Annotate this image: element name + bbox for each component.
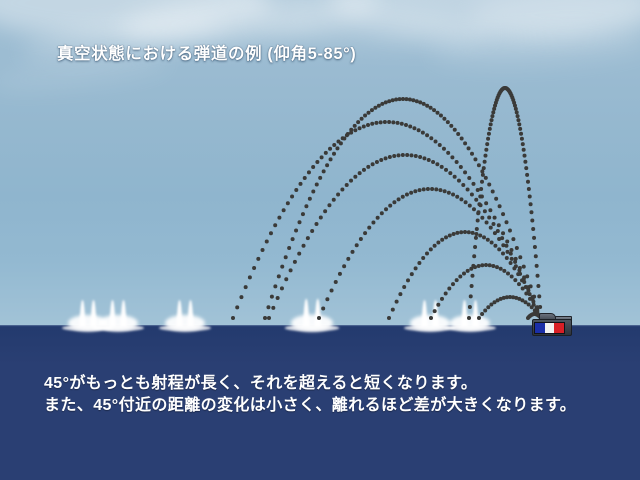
impact-splash-base: [159, 325, 211, 331]
impact-splash-plume: [90, 300, 96, 326]
impact-splash-plume: [461, 300, 467, 326]
impact-splash-plume: [176, 300, 182, 326]
impact-splash-plume: [79, 300, 85, 326]
impact-splash-base: [92, 325, 144, 331]
caption-line-1: 45°がもっとも射程が長く、それを超えると短くなります。: [44, 373, 576, 395]
impact-splash-plume: [303, 299, 310, 326]
trajectory-illustration: 真空状態における弾道の例 (仰角5-85°) 45°がもっとも射程が長く、それを…: [0, 0, 640, 480]
caption-block: 45°がもっとも射程が長く、それを超えると短くなります。 また、45°付近の距離…: [44, 373, 576, 417]
page-title: 真空状態における弾道の例 (仰角5-85°): [57, 40, 356, 64]
impact-splash-plume: [432, 300, 438, 326]
flag-stripe-blue: [535, 323, 545, 333]
impact-splash-plume: [187, 300, 193, 326]
impact-splash-plume: [314, 299, 321, 326]
caption-line-2: また、45°付近の距離の変化は小さく、離れるほど差が大きくなります。: [44, 395, 576, 417]
impact-splash-plume: [120, 300, 126, 326]
impact-splash-plume: [421, 300, 427, 326]
flag-stripe-red: [554, 323, 564, 333]
french-flag-icon: [534, 322, 565, 334]
impact-splash-plume: [109, 300, 115, 326]
impact-splash-base: [444, 325, 496, 331]
cannon[interactable]: [528, 303, 574, 337]
flag-stripe-white: [545, 323, 555, 333]
impact-splash-base: [285, 325, 340, 332]
impact-splash-plume: [472, 300, 478, 326]
